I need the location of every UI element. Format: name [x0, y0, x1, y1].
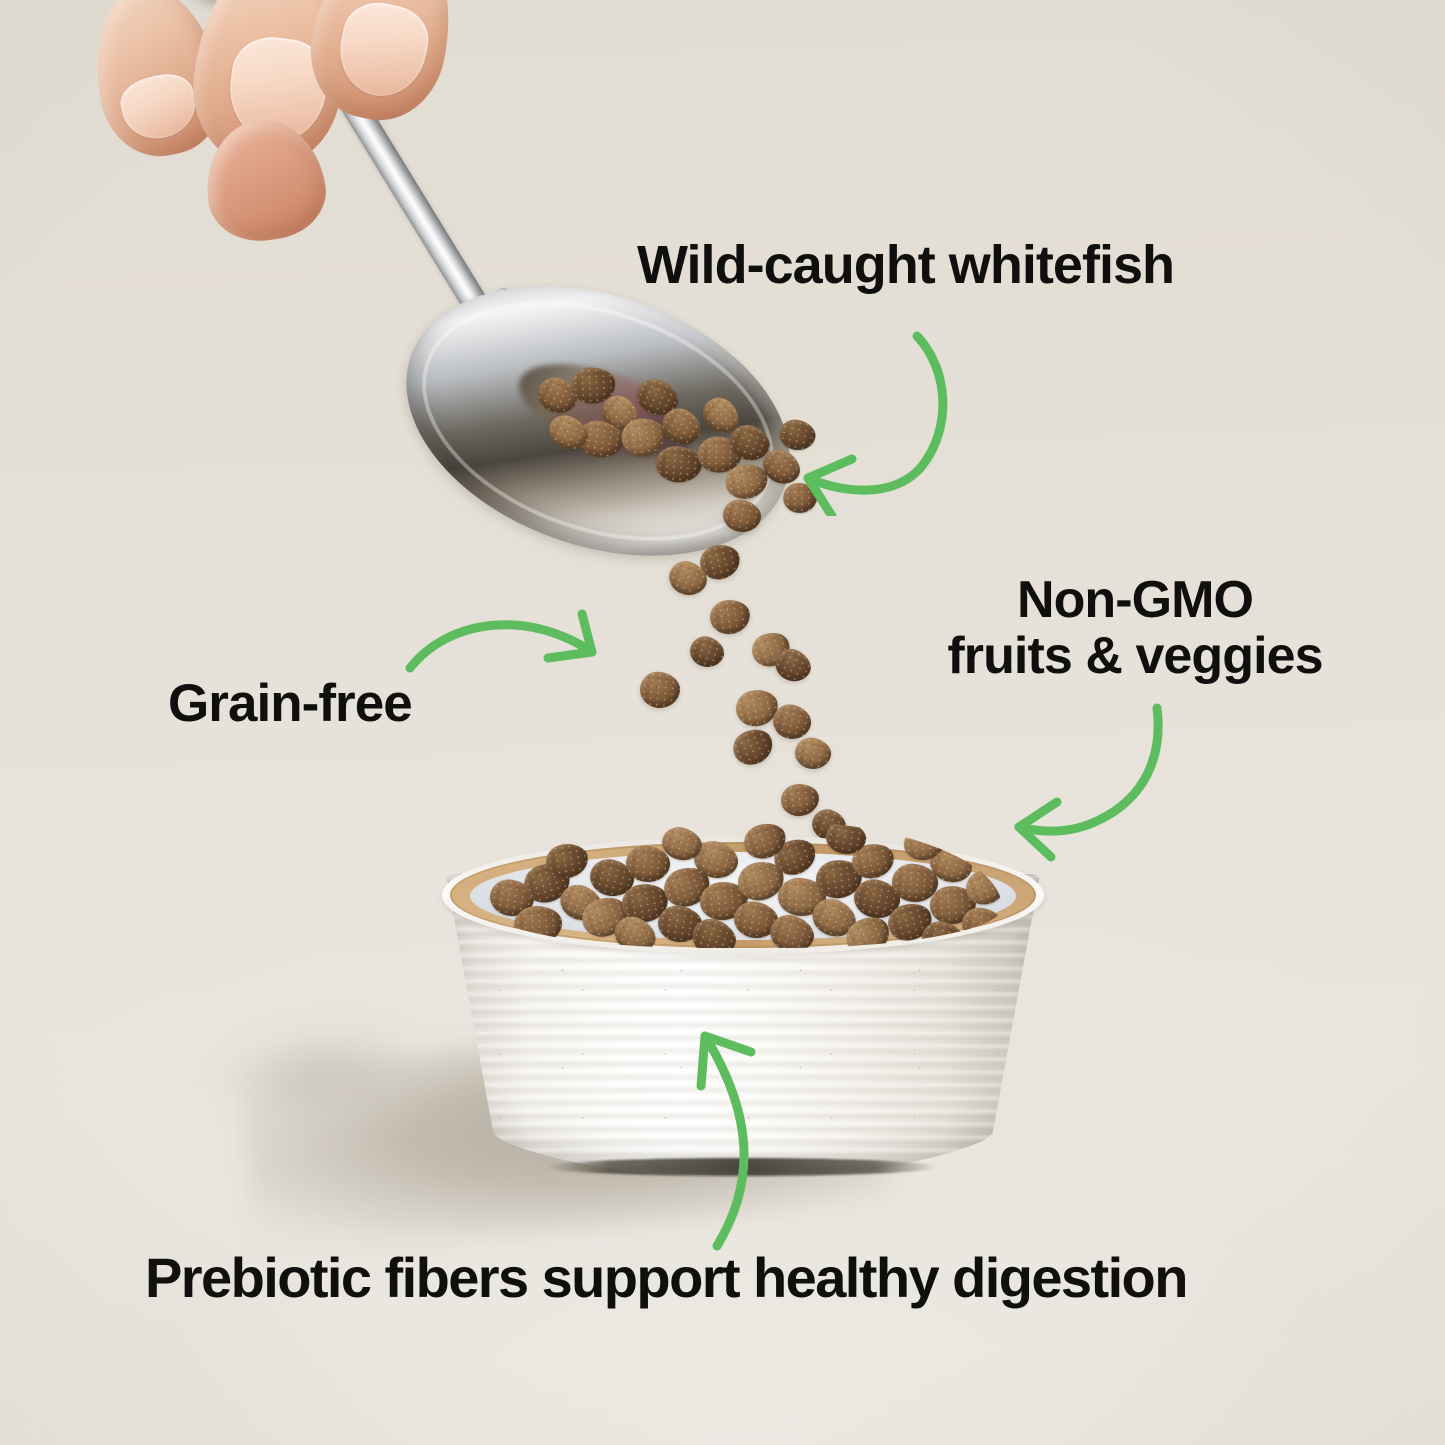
callout-label-prebiotic: Prebiotic fibers support healthy digesti…: [145, 1248, 1187, 1308]
callout-label-grain-free: Grain-free: [168, 675, 412, 732]
callout-label-whitefish: Wild-caught whitefish: [637, 236, 1174, 294]
callout-label-non-gmo: Non-GMO fruits & veggies: [910, 572, 1360, 684]
product-image-canvas: Wild-caught whitefish Non-GMO fruits & v…: [0, 0, 1445, 1445]
ceramic-bowl: [428, 800, 1058, 1200]
bowl-kibble-pile: [486, 820, 1002, 948]
bowl-foot: [546, 1158, 938, 1176]
